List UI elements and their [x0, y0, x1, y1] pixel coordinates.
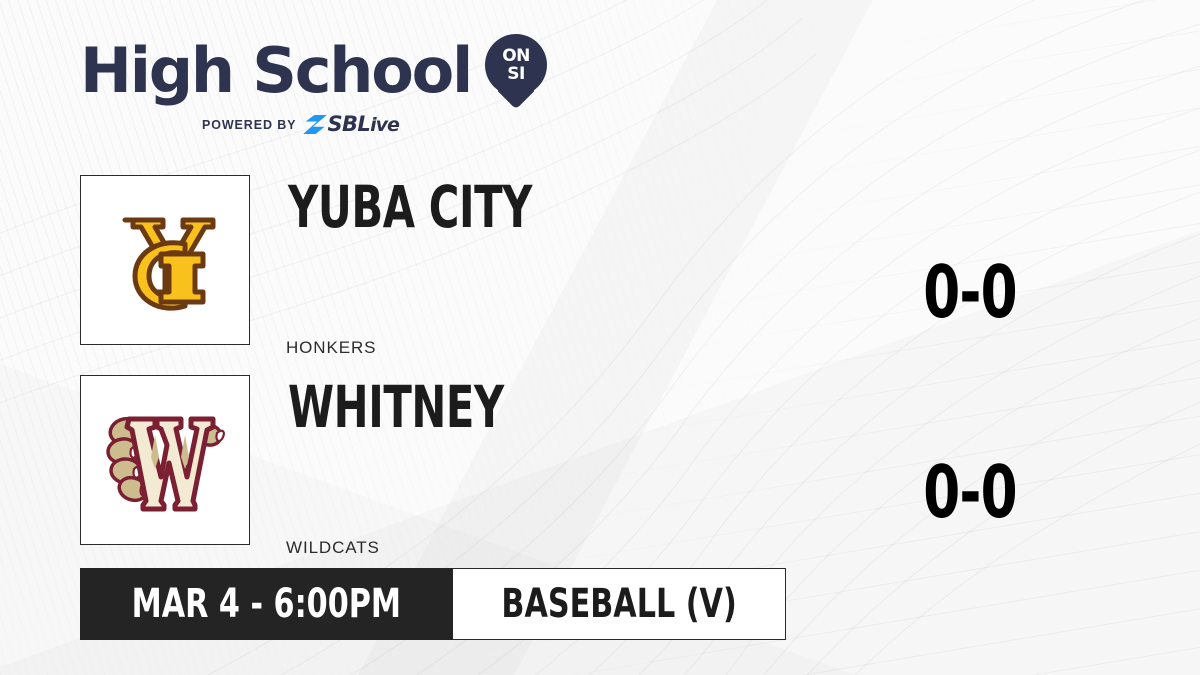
brand-header: High School ON SI POWERED BY SBLive [80, 34, 547, 135]
powered-by-row: POWERED BY SBLive [202, 114, 547, 135]
home-team-record: 0-0 [880, 256, 1060, 328]
sblive-logo: SBLive [305, 114, 399, 135]
away-team-logo [80, 375, 250, 545]
game-datetime-text: MAR 4 - 6:00PM [132, 584, 401, 624]
away-team-record: 0-0 [880, 456, 1060, 528]
game-sport-block: BASEBALL (V) [453, 568, 786, 640]
pin-label-line1: ON [502, 48, 530, 65]
sblive-wordmark-suffix: ive [370, 114, 399, 136]
powered-by-label: POWERED BY [202, 118, 296, 132]
home-team-logo [80, 175, 250, 345]
game-info-banner: MAR 4 - 6:00PM BASEBALL (V) [80, 568, 786, 640]
home-team-mascot: HONKERS [286, 338, 376, 358]
lightning-bolt-icon [304, 115, 328, 134]
sblive-wordmark: SBLive [327, 114, 399, 135]
page-title: High School [80, 41, 471, 102]
pin-label-line2: SI [507, 66, 525, 83]
home-team-name: YUBA CITY [288, 178, 532, 236]
pin-label: ON SI [485, 34, 547, 96]
game-sport-text: BASEBALL (V) [501, 584, 736, 624]
scoreboard-graphic: High School ON SI POWERED BY SBLive [0, 0, 1200, 675]
away-team-mascot: WILDCATS [286, 538, 380, 558]
brand-title-row: High School ON SI [80, 34, 547, 108]
away-team-name: WHITNEY [288, 378, 504, 436]
sblive-wordmark-main: SBL [327, 112, 370, 136]
game-datetime-block: MAR 4 - 6:00PM [80, 568, 453, 640]
map-pin-icon: ON SI [485, 34, 547, 108]
